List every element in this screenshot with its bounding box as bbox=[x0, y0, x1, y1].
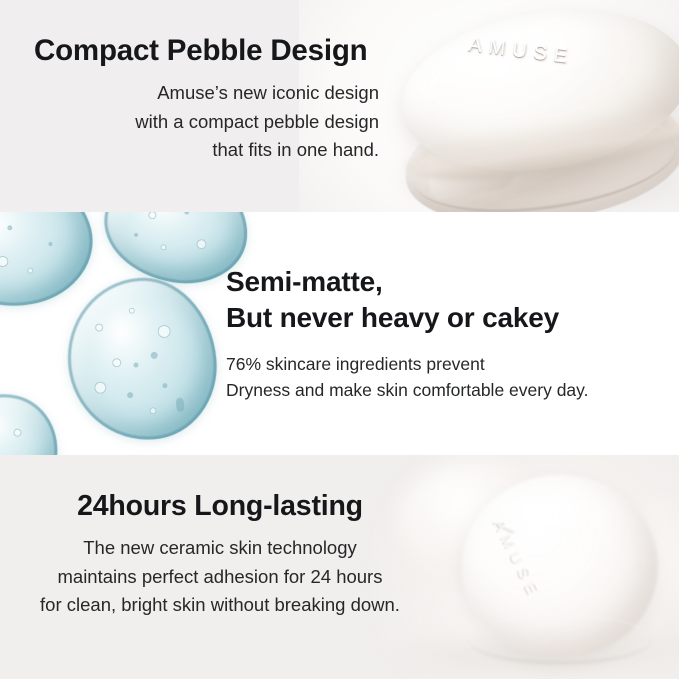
gel-bubble bbox=[0, 255, 10, 268]
gel-bubble bbox=[112, 358, 122, 368]
panel-one-copy: Compact Pebble Design Amuse’s new iconic… bbox=[34, 34, 379, 165]
gel-streak bbox=[175, 398, 184, 413]
compact-lid bbox=[390, 0, 679, 190]
gel-bubble bbox=[94, 323, 103, 332]
compact-pebble-rim bbox=[468, 615, 652, 664]
gel-bubble bbox=[127, 392, 134, 399]
gel-bubble bbox=[161, 244, 168, 251]
panel-two-headline: Semi-matte, But never heavy or cakey bbox=[226, 264, 668, 337]
compact-base-ring bbox=[407, 100, 679, 212]
gel-bubble bbox=[148, 212, 157, 220]
panel-semi-matte: Semi-matte, But never heavy or cakey 76%… bbox=[0, 212, 679, 455]
compact-base-rim bbox=[396, 73, 679, 212]
gel-droplet bbox=[0, 384, 68, 455]
gel-droplet-main bbox=[61, 272, 223, 446]
gel-bubble bbox=[157, 324, 171, 338]
gel-droplet bbox=[0, 212, 105, 322]
gel-bubble bbox=[196, 238, 207, 249]
compact-pebble-notch bbox=[495, 500, 525, 534]
background-pebble-blur bbox=[592, 499, 679, 649]
gel-bubble bbox=[12, 428, 21, 437]
compact-pebble bbox=[462, 475, 658, 657]
compact-base-clip bbox=[425, 143, 517, 201]
panel-24hours-long-lasting: AMUSE 24hours Long-lasting The new ceram… bbox=[0, 455, 679, 679]
gel-bubble-group bbox=[0, 212, 105, 322]
compact-pebble-highlight bbox=[492, 489, 618, 541]
compact-lid-highlight bbox=[430, 8, 615, 103]
panel-two-body: 76% skincare ingredients prevent Dryness… bbox=[226, 351, 668, 404]
gel-bubble bbox=[48, 241, 53, 246]
gel-bubble bbox=[94, 382, 107, 395]
gel-bubble bbox=[133, 233, 138, 238]
panel-three-headline: 24hours Long-lasting bbox=[18, 491, 422, 523]
panel-one-headline: Compact Pebble Design bbox=[34, 34, 379, 67]
gel-bubble bbox=[149, 407, 157, 415]
panel-three-copy: 24hours Long-lasting The new ceramic ski… bbox=[18, 491, 422, 620]
background-wash bbox=[380, 455, 679, 679]
product-shadow bbox=[400, 641, 679, 679]
gel-bubble bbox=[133, 363, 138, 368]
panel-compact-pebble-design: AMUSE Compact Pebble Design Amuse’s new … bbox=[0, 0, 679, 212]
product-wordmark: AMUSE bbox=[467, 34, 575, 70]
gel-bubble bbox=[162, 383, 167, 388]
compact-lid-edge bbox=[402, 98, 679, 193]
gel-bubble-group bbox=[61, 272, 223, 446]
gel-bubble bbox=[184, 212, 190, 215]
panel-three-body: The new ceramic skin technology maintain… bbox=[18, 534, 422, 620]
product-feature-image: AMUSE Compact Pebble Design Amuse’s new … bbox=[0, 0, 679, 679]
product-shadow bbox=[398, 148, 679, 212]
gel-bubble bbox=[150, 351, 158, 359]
gel-bubble bbox=[27, 267, 34, 274]
panel-two-copy: Semi-matte, But never heavy or cakey 76%… bbox=[226, 264, 668, 404]
gel-bubble bbox=[7, 225, 13, 231]
product-wordmark: AMUSE bbox=[489, 517, 543, 603]
panel-one-body: Amuse’s new iconic design with a compact… bbox=[34, 79, 379, 165]
gel-bubble-group bbox=[0, 384, 68, 455]
gel-bubble bbox=[129, 308, 136, 315]
